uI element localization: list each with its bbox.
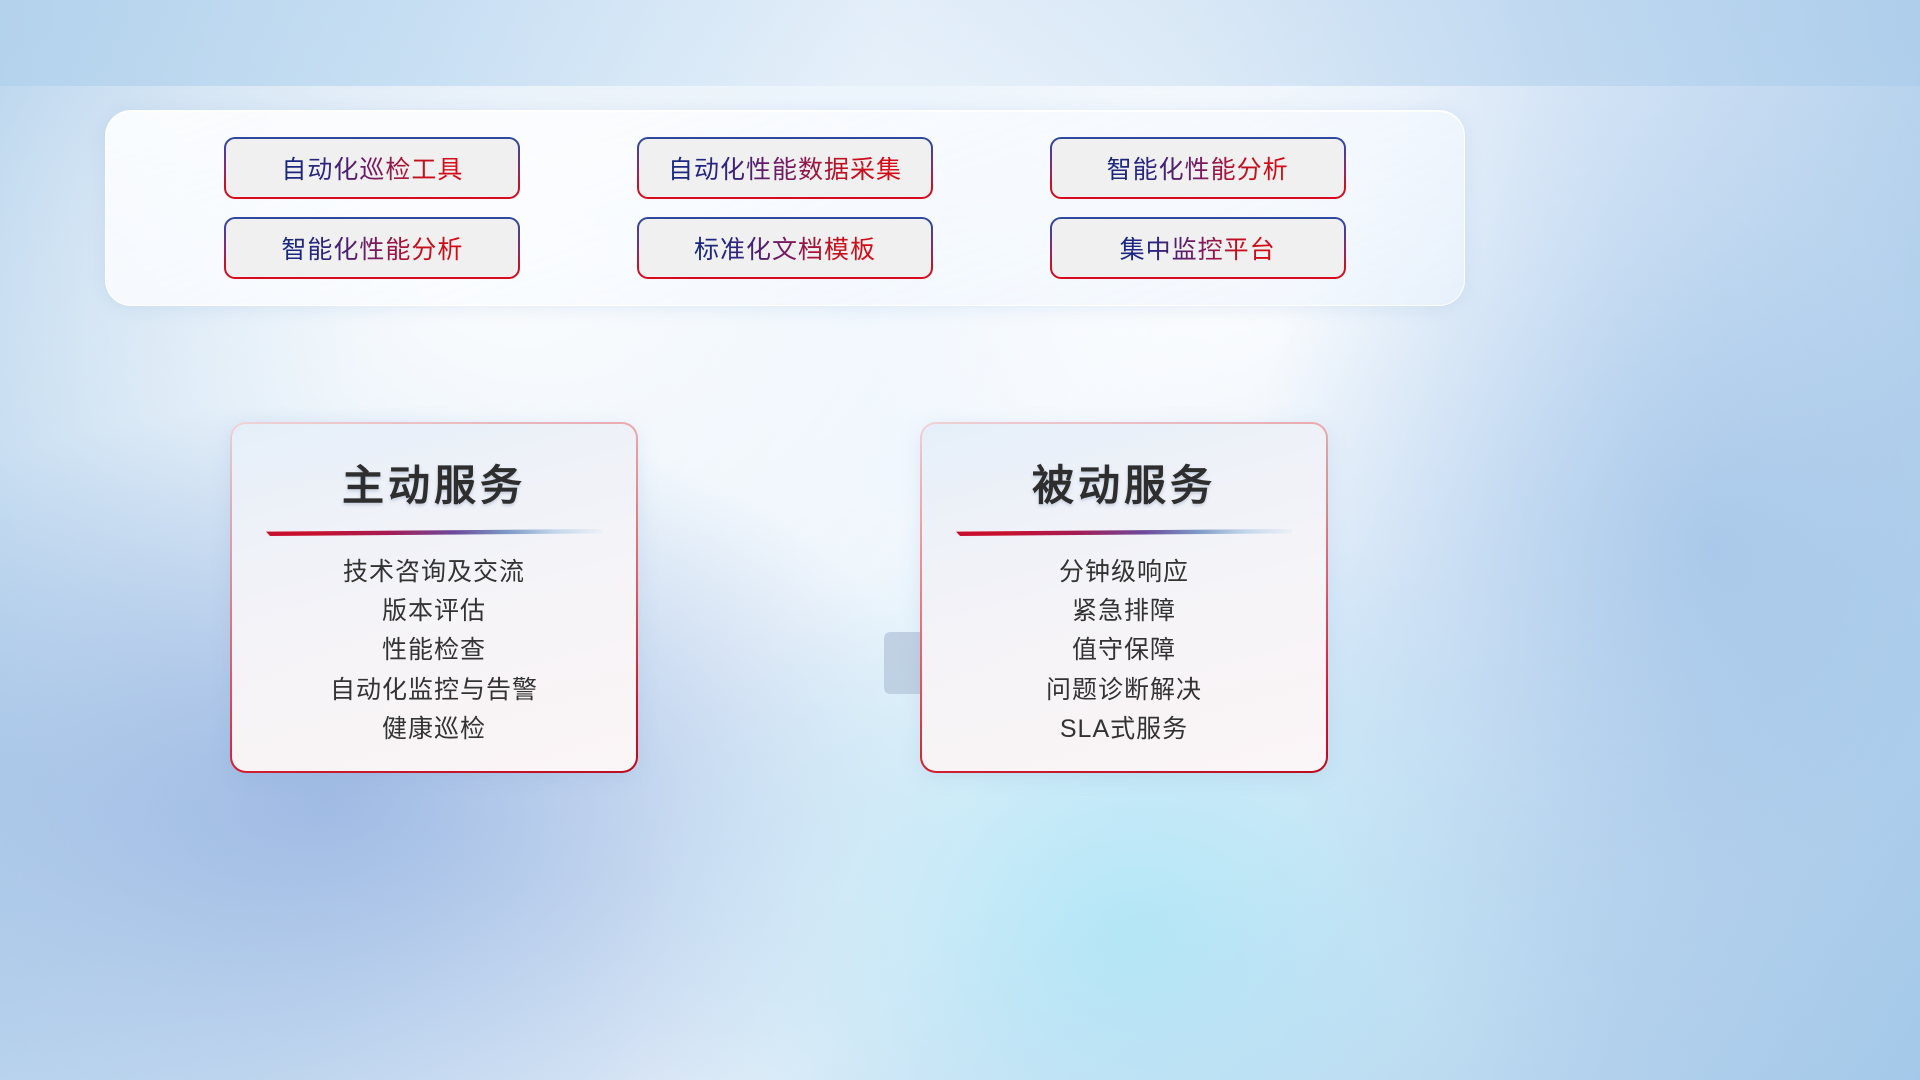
capability-pill[interactable]: 智能化性能分析 xyxy=(1052,139,1344,197)
active-service-title: 主动服务 xyxy=(258,452,610,513)
passive-service-card-body: 被动服务 分钟级响应 紧急排障 值守保障 问题诊断解决 SLA式服务 xyxy=(922,424,1326,771)
capability-pill-label: 智能化性能分析 xyxy=(1107,150,1289,186)
capability-pill[interactable]: 自动化性能数据采集 xyxy=(639,139,931,197)
passive-service-card[interactable]: 被动服务 分钟级响应 紧急排障 值守保障 问题诊断解决 SLA式服务 xyxy=(922,424,1326,771)
list-item[interactable]: 性能检查 xyxy=(258,630,610,666)
capability-pill[interactable]: 自动化巡检工具 xyxy=(226,139,518,197)
list-item[interactable]: 健康巡检 xyxy=(258,709,610,745)
list-item[interactable]: 问题诊断解决 xyxy=(948,670,1300,706)
capability-pill[interactable]: 标准化文档模板 xyxy=(639,219,931,277)
passive-service-divider xyxy=(956,529,1292,536)
list-item[interactable]: 分钟级响应 xyxy=(948,552,1300,588)
capability-pill-grid: 自动化巡检工具 自动化性能数据采集 智能化性能分析 智能化性能分析 标准化文档模… xyxy=(106,111,1464,305)
list-item[interactable]: 版本评估 xyxy=(258,591,610,627)
list-item[interactable]: 值守保障 xyxy=(948,630,1300,666)
capability-panel: 自动化巡检工具 自动化性能数据采集 智能化性能分析 智能化性能分析 标准化文档模… xyxy=(105,110,1465,306)
list-item[interactable]: 紧急排障 xyxy=(948,591,1300,627)
capability-pill-label: 标准化文档模板 xyxy=(694,230,876,266)
passive-service-title: 被动服务 xyxy=(948,452,1300,513)
capability-pill-label: 自动化巡检工具 xyxy=(281,150,463,186)
capability-pill-label: 智能化性能分析 xyxy=(281,230,463,266)
active-service-card[interactable]: 主动服务 技术咨询及交流 版本评估 性能检查 自动化监控与告警 健康巡检 xyxy=(232,424,636,771)
active-service-divider xyxy=(266,529,602,536)
active-service-card-body: 主动服务 技术咨询及交流 版本评估 性能检查 自动化监控与告警 健康巡检 xyxy=(232,424,636,771)
list-item[interactable]: 技术咨询及交流 xyxy=(258,552,610,588)
passive-service-list: 分钟级响应 紧急排障 值守保障 问题诊断解决 SLA式服务 xyxy=(948,536,1300,753)
active-service-list: 技术咨询及交流 版本评估 性能检查 自动化监控与告警 健康巡检 xyxy=(258,536,610,753)
capability-pill[interactable]: 智能化性能分析 xyxy=(226,219,518,277)
capability-pill-label: 自动化性能数据采集 xyxy=(668,150,902,186)
list-item[interactable]: 自动化监控与告警 xyxy=(258,670,610,706)
capability-pill-label: 集中监控平台 xyxy=(1120,230,1276,266)
capability-pill[interactable]: 集中监控平台 xyxy=(1052,219,1344,277)
list-item[interactable]: SLA式服务 xyxy=(948,709,1300,745)
